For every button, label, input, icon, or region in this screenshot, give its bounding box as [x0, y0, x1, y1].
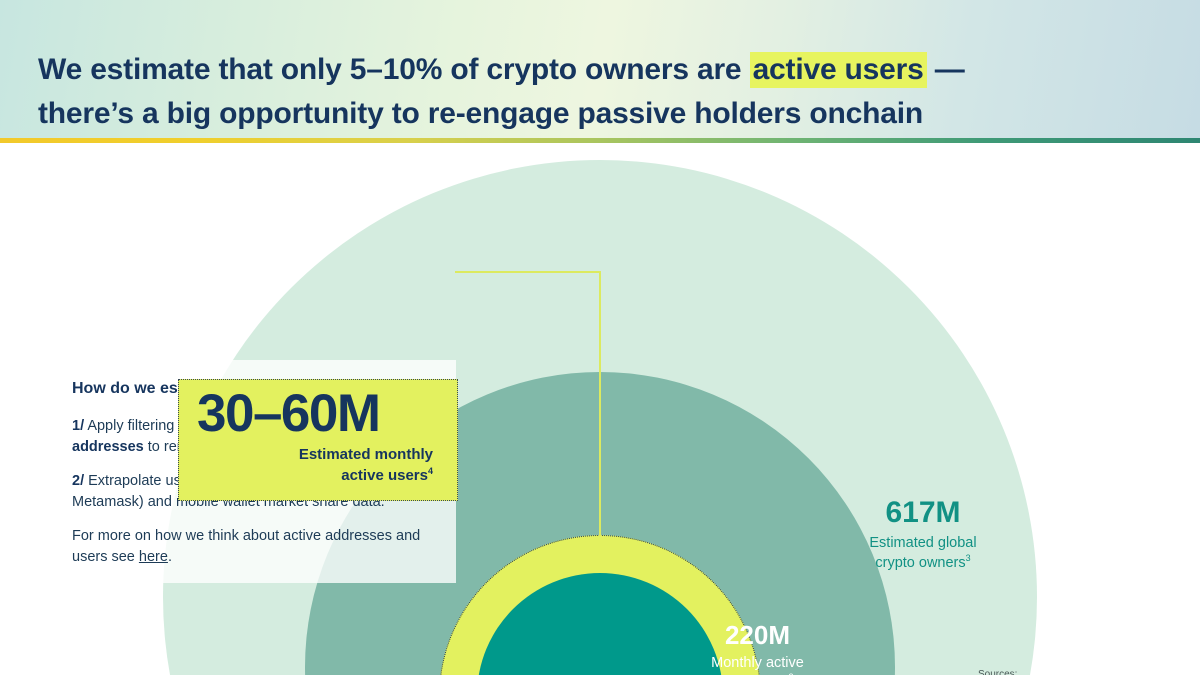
sources-block: Sources: 1/ Sensor Tower as of Sept 2024…: [978, 668, 1178, 675]
callout-label-line1: Estimated monthly: [299, 446, 433, 463]
callout-label: Estimated monthly active users4: [197, 445, 433, 487]
label-crypto-owners: 617M Estimated global crypto owners3: [818, 496, 1028, 573]
footnote-marker-4: 4: [428, 466, 433, 476]
sources-heading: Sources:: [978, 668, 1178, 675]
closing-text-a: For more on how we think about active ad…: [72, 528, 420, 565]
step-1-marker: 1/: [72, 418, 84, 434]
methodology-closing: For more on how we think about active ad…: [72, 526, 430, 567]
here-link[interactable]: here: [139, 549, 168, 565]
label-active-addresses-sub-line1: Monthly active: [711, 655, 804, 671]
label-active-addresses: 220M Monthly active addresses2: [660, 621, 855, 675]
page-title: We estimate that only 5–10% of crypto ow…: [38, 48, 1128, 136]
estimated-active-users-callout: 30–60M Estimated monthly active users4: [178, 379, 458, 501]
footnote-marker-3: 3: [966, 553, 971, 563]
step-2-marker: 2/: [72, 473, 84, 489]
label-active-addresses-value: 220M: [660, 621, 855, 650]
title-text-before: We estimate that only 5–10% of crypto ow…: [38, 53, 750, 86]
diagram-canvas: 617M Estimated global crypto owners3 220…: [0, 143, 1200, 675]
label-crypto-owners-sub-line1: Estimated global: [869, 535, 976, 551]
closing-text-b: .: [168, 549, 172, 565]
title-highlight: active users: [750, 52, 927, 88]
title-line-two: there’s a big opportunity to re-engage p…: [38, 97, 923, 130]
label-crypto-owners-sub-line2: crypto owners: [875, 555, 965, 571]
title-text-after: —: [927, 53, 965, 86]
label-active-addresses-sub: Monthly active addresses2: [660, 654, 855, 675]
callout-connector-line: [455, 271, 601, 536]
label-crypto-owners-value: 617M: [818, 496, 1028, 529]
callout-value: 30–60M: [197, 386, 433, 442]
label-crypto-owners-sub: Estimated global crypto owners3: [818, 534, 1028, 573]
callout-label-line2: active users: [341, 467, 428, 484]
